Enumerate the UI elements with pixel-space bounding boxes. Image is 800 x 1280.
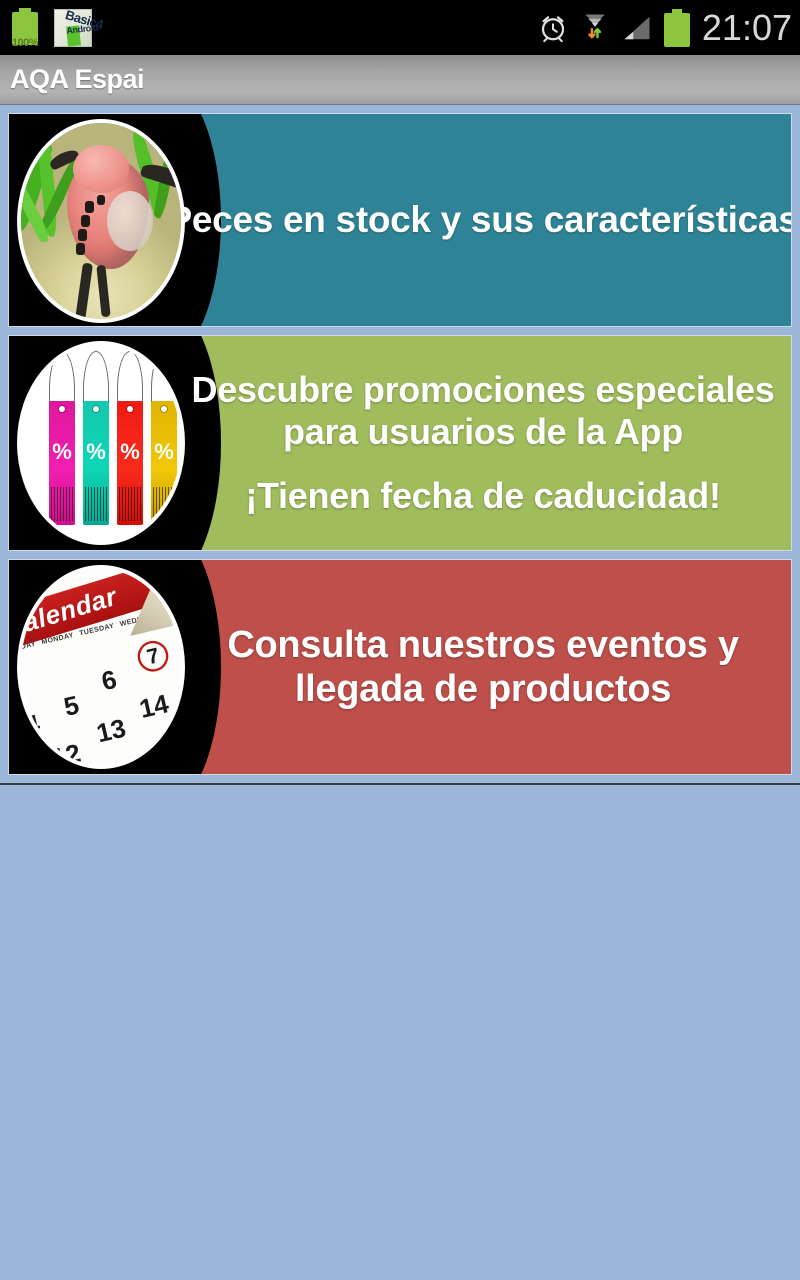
- calendar-date: 6: [99, 664, 120, 697]
- empty-list-area: [0, 785, 800, 1273]
- title-bar: AQA Espai: [0, 55, 800, 105]
- flowerhorn-fish-photo: [17, 119, 185, 323]
- calendar-date: 12: [49, 738, 84, 765]
- price-tag: %: [151, 401, 177, 525]
- card-text-fish-stock: Peces en stock y sus características: [189, 114, 777, 326]
- page-title: AQA Espai: [10, 64, 144, 95]
- calendar-date: 8: [178, 622, 181, 655]
- status-bar: 100% Basic4 Android 21:0: [0, 0, 800, 55]
- status-bar-clock: 21:07: [702, 7, 792, 49]
- signal-icon: [622, 15, 652, 41]
- list-item-promotions[interactable]: % % % %: [8, 335, 792, 551]
- status-bar-left: 100% Basic4 Android: [0, 8, 92, 48]
- card-text-promotions: Descubre promociones especiales para usu…: [189, 336, 777, 550]
- battery-percent-label: 100%: [10, 37, 40, 49]
- calendar-date: 5: [61, 690, 82, 723]
- calendar-date-circled: 7: [135, 638, 172, 675]
- menu-list: Peces en stock y sus características %: [0, 105, 800, 785]
- battery-percent-icon: 100%: [10, 8, 40, 48]
- discount-price-tags-photo: % % % %: [17, 341, 185, 545]
- alarm-icon: [538, 13, 568, 43]
- card-line: llegada de productos: [295, 667, 671, 711]
- calendar-date: 14: [137, 689, 172, 725]
- card-line: Descubre promociones especiales: [192, 369, 775, 411]
- list-item-slot: % % % %: [0, 327, 800, 551]
- basic4android-icon: Basic4 Android: [54, 9, 92, 47]
- status-bar-right: 21:07: [538, 0, 792, 55]
- card-line: ¡Tienen fecha de caducidad!: [245, 475, 720, 517]
- price-tag-symbol: %: [117, 439, 143, 465]
- list-item-fish-stock[interactable]: Peces en stock y sus características: [8, 113, 792, 327]
- calendar-date: 20: [132, 743, 167, 765]
- list-item-slot: Peces en stock y sus características: [0, 105, 800, 327]
- price-tag: %: [49, 401, 75, 525]
- price-tag: %: [117, 401, 143, 525]
- price-tag-symbol: %: [151, 439, 177, 465]
- price-tag-symbol: %: [83, 439, 109, 465]
- calendar-photo: Calendar SUNDAY MONDAY TUESDAY WEDNESDAY…: [17, 565, 185, 769]
- price-tag-symbol: %: [49, 439, 75, 465]
- card-line: Consulta nuestros eventos y: [227, 623, 738, 667]
- card-line: Peces en stock y sus características: [168, 199, 792, 242]
- list-item-slot: Calendar SUNDAY MONDAY TUESDAY WEDNESDAY…: [0, 551, 800, 785]
- battery-icon: [664, 9, 690, 47]
- list-item-events[interactable]: Calendar SUNDAY MONDAY TUESDAY WEDNESDAY…: [8, 559, 792, 775]
- calendar-date: 4: [22, 709, 43, 742]
- calendar-day-header: SUNDAY: [21, 641, 37, 655]
- wifi-icon: [580, 12, 610, 44]
- basic4android-line2: Android: [66, 25, 81, 46]
- calendar-date: 13: [94, 713, 129, 749]
- card-line: para usuarios de la App: [283, 411, 683, 453]
- price-tag: %: [83, 401, 109, 525]
- card-text-events: Consulta nuestros eventos y llegada de p…: [189, 560, 777, 774]
